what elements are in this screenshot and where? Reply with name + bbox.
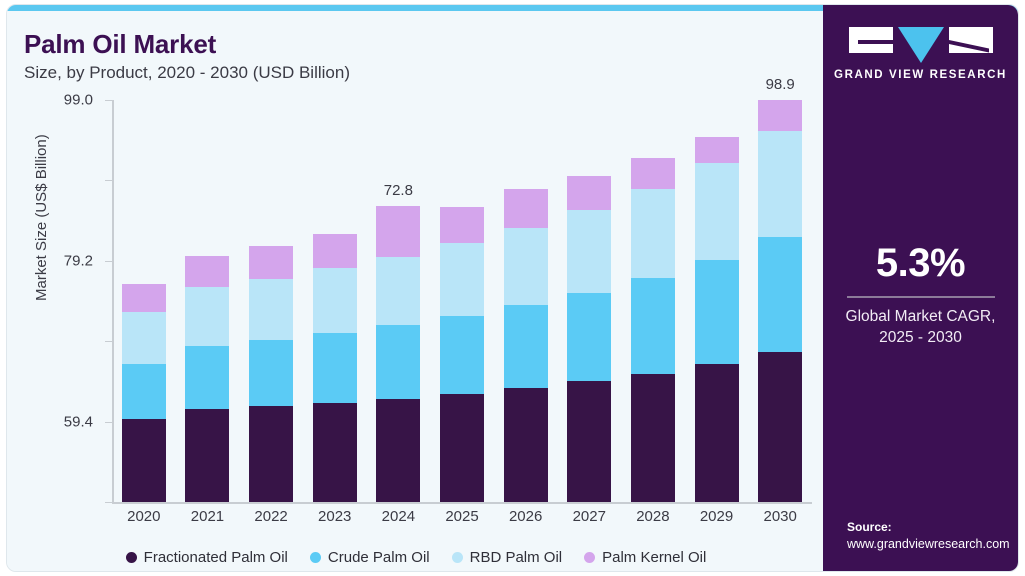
bar-2025[interactable] <box>440 207 484 502</box>
bar-segment[interactable] <box>376 325 420 398</box>
x-tick-label: 2028 <box>623 508 683 525</box>
y-tick-label: 79.2 <box>64 252 93 269</box>
y-tick-mark: 0.0 <box>105 502 112 503</box>
legend-label: Crude Palm Oil <box>328 549 430 566</box>
bar-segment[interactable] <box>313 268 357 333</box>
bar-2027[interactable] <box>567 176 611 502</box>
bar-segment[interactable] <box>185 287 229 346</box>
bar-segment[interactable] <box>695 364 739 502</box>
x-tick-label: 2027 <box>559 508 619 525</box>
chart-panel: Palm Oil Market Size, by Product, 2020 -… <box>7 11 825 572</box>
bar-segment[interactable] <box>313 333 357 403</box>
bar-segment[interactable] <box>504 305 548 388</box>
x-tick-label: 2024 <box>368 508 428 525</box>
bar-segment[interactable] <box>313 403 357 502</box>
y-tick-mark: 79.2 <box>105 180 112 181</box>
legend-item[interactable]: Crude Palm Oil <box>310 549 430 566</box>
source-url[interactable]: www.grandviewresearch.com <box>847 537 1017 551</box>
y-tick-label: 59.4 <box>64 413 93 430</box>
y-tick-mark: 99.0 <box>105 100 112 101</box>
x-tick-label: 2029 <box>687 508 747 525</box>
legend-swatch-icon <box>584 552 595 563</box>
x-tick-label: 2022 <box>241 508 301 525</box>
bar-2021[interactable] <box>185 256 229 502</box>
bar-segment[interactable] <box>122 419 166 502</box>
cagr-label-line2: 2025 - 2030 <box>823 328 1018 349</box>
page-subtitle: Size, by Product, 2020 - 2030 (USD Billi… <box>24 63 350 83</box>
legend-label: RBD Palm Oil <box>470 549 563 566</box>
y-axis-title: Market Size (US$ Billion) <box>33 134 50 301</box>
bar-segment[interactable] <box>376 257 420 326</box>
logo-g-icon <box>849 27 893 53</box>
bar-2028[interactable] <box>631 158 675 502</box>
source-block: Source: www.grandviewresearch.com <box>847 520 1017 551</box>
bar-segment[interactable] <box>376 399 420 502</box>
legend-swatch-icon <box>452 552 463 563</box>
cagr-label-line1: Global Market CAGR, <box>823 307 1018 328</box>
bar-segment[interactable] <box>440 394 484 502</box>
plot-area: 0.019.839.659.479.299.0 2020202120222023… <box>112 100 812 504</box>
bar-segment[interactable] <box>122 284 166 311</box>
bar-segment[interactable] <box>249 246 293 278</box>
cagr-block: 5.3% Global Market CAGR, 2025 - 2030 <box>823 241 1018 349</box>
bar-segment[interactable] <box>631 278 675 373</box>
cagr-value: 5.3% <box>823 241 1018 286</box>
bar-segment[interactable] <box>758 352 802 502</box>
bar-segment[interactable] <box>249 279 293 341</box>
infographic-card: Palm Oil Market Size, by Product, 2020 -… <box>6 4 1019 572</box>
bar-2026[interactable] <box>504 189 548 502</box>
bar-2030[interactable] <box>758 100 802 502</box>
bar-segment[interactable] <box>122 364 166 419</box>
legend-item[interactable]: Fractionated Palm Oil <box>126 549 288 566</box>
screenshot-root: Palm Oil Market Size, by Product, 2020 -… <box>0 0 1025 576</box>
bar-segment[interactable] <box>185 409 229 502</box>
bar-2020[interactable] <box>122 284 166 502</box>
logo-v-triangle-icon <box>898 27 944 63</box>
legend-item[interactable]: RBD Palm Oil <box>452 549 563 566</box>
gvr-logo: GRAND VIEW RESEARCH <box>823 27 1018 81</box>
y-tick-label: 99.0 <box>64 92 93 109</box>
bar-segment[interactable] <box>631 374 675 502</box>
legend-label: Fractionated Palm Oil <box>144 549 288 566</box>
logo-r-icon <box>949 27 993 53</box>
bar-segment[interactable] <box>440 243 484 316</box>
bar-segment[interactable] <box>567 176 611 211</box>
bar-segment[interactable] <box>567 381 611 502</box>
x-tick-label: 2023 <box>305 508 365 525</box>
y-axis-line <box>112 100 114 504</box>
bar-2022[interactable] <box>249 246 293 502</box>
page-title: Palm Oil Market <box>24 29 216 60</box>
bar-segment[interactable] <box>376 206 420 256</box>
bar-segment[interactable] <box>504 228 548 305</box>
bar-segment[interactable] <box>567 293 611 382</box>
x-tick-label: 2025 <box>432 508 492 525</box>
brand-sidebar: GRAND VIEW RESEARCH 5.3% Global Market C… <box>823 5 1018 572</box>
legend-item[interactable]: Palm Kernel Oil <box>584 549 706 566</box>
bar-total-label: 98.9 <box>735 76 825 93</box>
bar-segment[interactable] <box>440 207 484 243</box>
bar-segment[interactable] <box>440 316 484 394</box>
x-tick-label: 2026 <box>496 508 556 525</box>
y-tick-mark: 19.8 <box>105 422 112 423</box>
bar-2023[interactable] <box>313 234 357 502</box>
bar-segment[interactable] <box>504 388 548 502</box>
logo-wordmark: GRAND VIEW RESEARCH <box>834 69 1007 81</box>
bar-2024[interactable] <box>376 206 420 502</box>
bar-segment[interactable] <box>695 163 739 260</box>
bar-segment[interactable] <box>249 340 293 406</box>
legend-swatch-icon <box>310 552 321 563</box>
logo-marks <box>849 27 993 63</box>
bar-segment[interactable] <box>758 237 802 352</box>
source-label: Source: <box>847 520 1017 534</box>
bar-segment[interactable] <box>695 260 739 364</box>
bar-segment[interactable] <box>185 346 229 409</box>
bar-segment[interactable] <box>758 131 802 237</box>
bar-segment[interactable] <box>122 312 166 365</box>
bar-segment[interactable] <box>695 137 739 163</box>
cagr-divider <box>847 296 995 298</box>
bar-segment[interactable] <box>249 406 293 502</box>
legend-swatch-icon <box>126 552 137 563</box>
x-axis-line <box>112 502 812 504</box>
bar-segment[interactable] <box>631 158 675 190</box>
legend-label: Palm Kernel Oil <box>602 549 706 566</box>
bar-segment[interactable] <box>313 234 357 269</box>
x-tick-label: 2020 <box>114 508 174 525</box>
bar-segment[interactable] <box>185 256 229 287</box>
x-tick-label: 2021 <box>177 508 237 525</box>
y-tick-mark: 59.4 <box>105 261 112 262</box>
bar-segment[interactable] <box>504 189 548 228</box>
bar-2029[interactable] <box>695 137 739 502</box>
cagr-label: Global Market CAGR, 2025 - 2030 <box>823 307 1018 349</box>
bar-total-label: 72.8 <box>353 182 443 199</box>
y-tick-mark: 39.6 <box>105 341 112 342</box>
bar-segment[interactable] <box>758 100 802 130</box>
chart-legend: Fractionated Palm OilCrude Palm OilRBD P… <box>7 549 825 566</box>
x-tick-label: 2030 <box>750 508 810 525</box>
bar-segment[interactable] <box>631 189 675 278</box>
bar-segment[interactable] <box>567 210 611 292</box>
